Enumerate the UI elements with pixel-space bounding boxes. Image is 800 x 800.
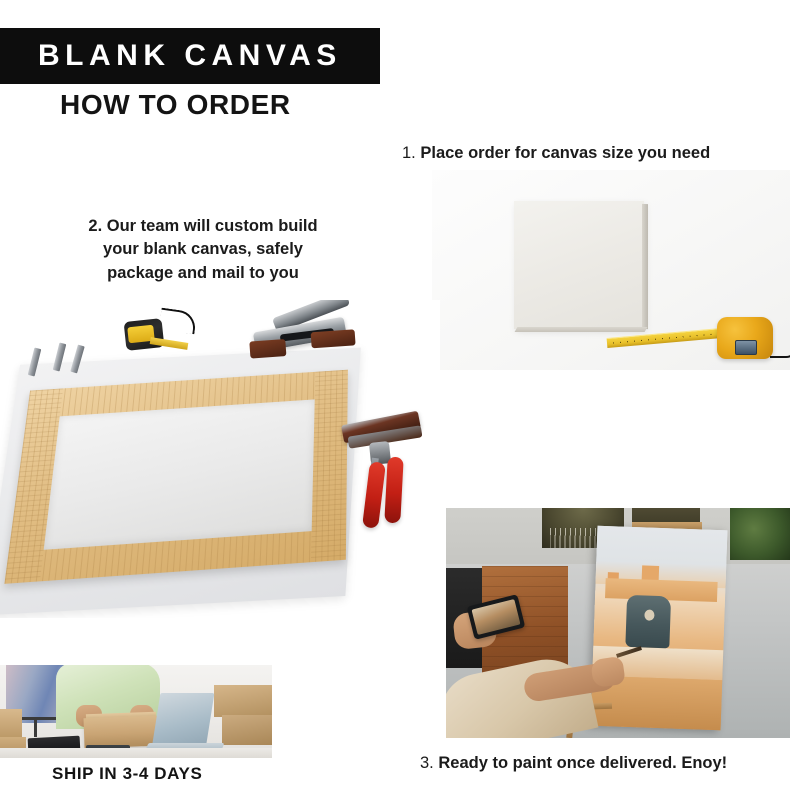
small-tape-cord bbox=[159, 308, 198, 335]
pliers-handle-2 bbox=[384, 457, 403, 524]
painting-canvas bbox=[591, 526, 728, 730]
artist-hand-brush bbox=[590, 656, 626, 688]
tape-measure-cord bbox=[770, 346, 790, 358]
staple-gun-grip-rear bbox=[311, 329, 356, 348]
small-tape-blade bbox=[150, 337, 189, 350]
step-2-caption: 2. Our team will custom build your blank… bbox=[58, 215, 348, 285]
desk-surface bbox=[0, 748, 272, 758]
step-1-number: 1. bbox=[402, 144, 416, 162]
hanging-plant bbox=[730, 508, 790, 560]
tape-measure-lock bbox=[735, 340, 757, 355]
frame-canvas-window bbox=[44, 399, 315, 549]
step-3-number: 3. bbox=[420, 754, 434, 772]
canvas-pliers bbox=[340, 418, 436, 568]
infographic-page: BLANK CANVAS HOW TO ORDER 1. Place order… bbox=[0, 0, 800, 800]
page-subtitle: HOW TO ORDER bbox=[60, 90, 291, 121]
clothing-rack-leg bbox=[34, 719, 37, 737]
stacked-box-right-upper bbox=[214, 685, 272, 717]
page-title: BLANK CANVAS bbox=[0, 41, 342, 71]
blank-canvas-face bbox=[514, 201, 644, 329]
staple-gun-grip-front bbox=[249, 339, 286, 358]
step-1-text: Place order for canvas size you need bbox=[420, 144, 710, 162]
wooden-frame bbox=[4, 370, 347, 584]
canvas-side-edge bbox=[642, 204, 648, 329]
pliers-handle-1 bbox=[362, 461, 386, 528]
stretcher-frame-photo bbox=[0, 300, 440, 618]
laptop-screen bbox=[152, 693, 215, 749]
step-1-caption: 1. Place order for canvas size you need bbox=[402, 142, 710, 165]
step-2-line-2: your blank canvas, safely bbox=[58, 238, 348, 261]
stacked-box-right-lower bbox=[222, 715, 272, 745]
packing-photo bbox=[0, 665, 272, 758]
blank-canvas-photo bbox=[432, 170, 790, 370]
painting-figure bbox=[625, 595, 671, 649]
shipping-caption: SHIP IN 3-4 DAYS bbox=[52, 764, 202, 784]
title-banner: BLANK CANVAS bbox=[0, 28, 380, 84]
step-3-caption: 3. Ready to paint once delivered. Enoy! bbox=[420, 752, 727, 775]
artist-painting-photo bbox=[446, 508, 790, 738]
stacked-box-left-upper bbox=[0, 709, 22, 739]
canvas-bottom-edge bbox=[515, 327, 648, 332]
step-3-text: Ready to paint once delivered. Enoy! bbox=[438, 754, 727, 772]
step-2-line-3: package and mail to you bbox=[58, 262, 348, 285]
step-2-line-1: 2. Our team will custom build bbox=[58, 215, 348, 238]
